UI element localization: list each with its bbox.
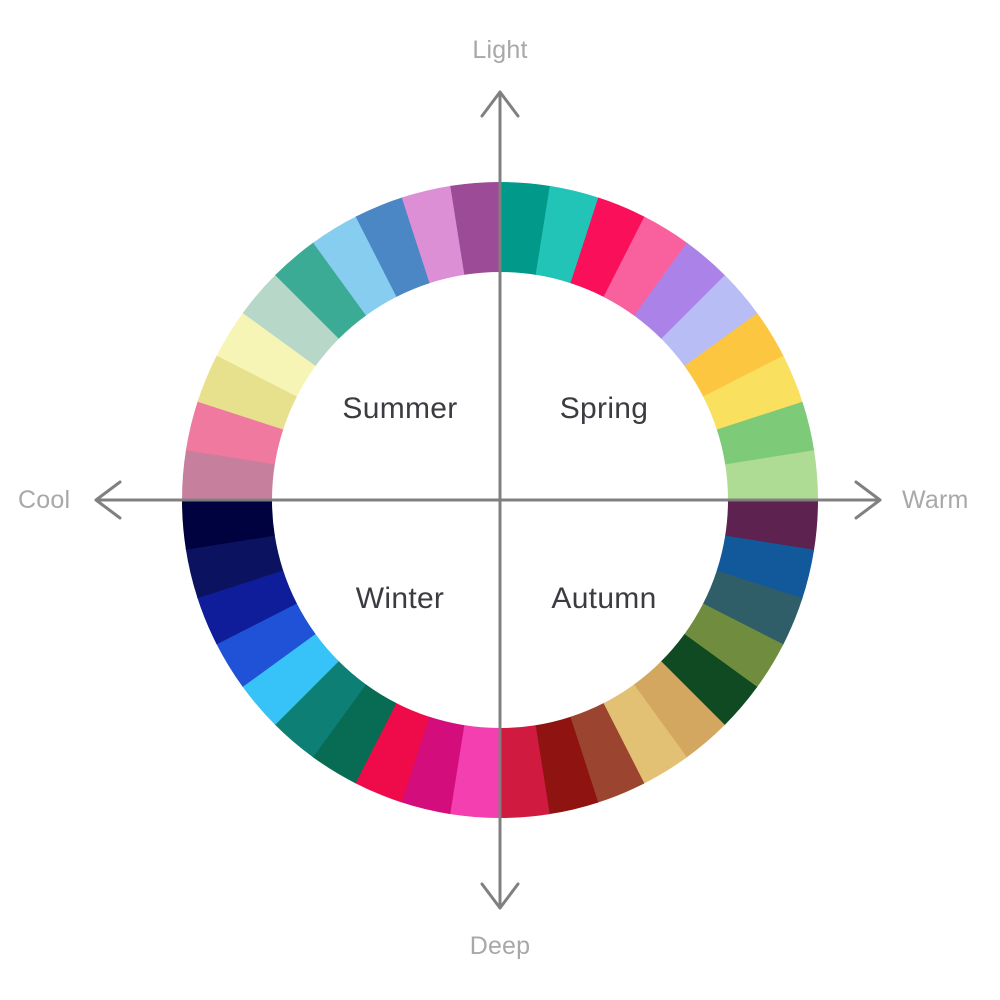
- quadrant-label-winter: Winter: [290, 582, 510, 616]
- quadrant-label-autumn: Autumn: [494, 582, 714, 616]
- cool-axis-label: Cool: [18, 486, 70, 515]
- warm-axis-label: Warm: [902, 486, 969, 515]
- quadrant-label-summer: Summer: [290, 392, 510, 426]
- color-wheel-diagram: Light Deep Cool Warm Summer Spring Winte…: [0, 0, 1000, 1000]
- quadrant-label-spring: Spring: [494, 392, 714, 426]
- color-wheel-svg: [0, 0, 1000, 1000]
- deep-axis-label: Deep: [0, 932, 1000, 961]
- light-axis-label: Light: [0, 36, 1000, 65]
